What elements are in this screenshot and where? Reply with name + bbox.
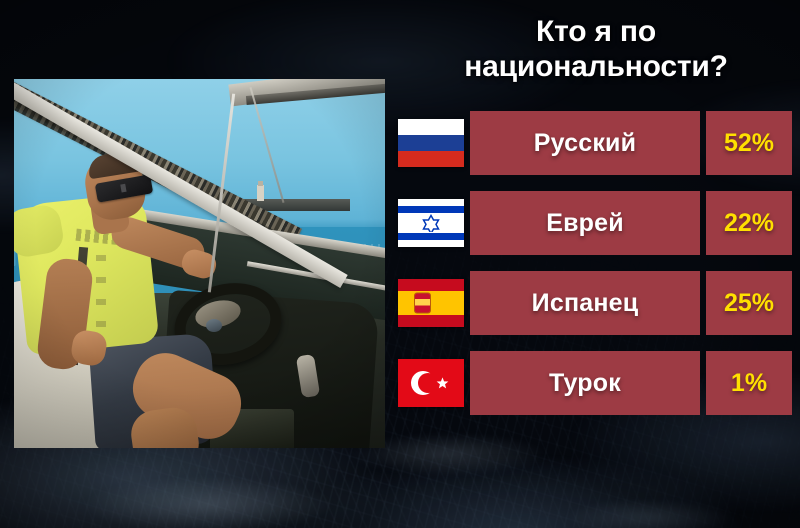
flag-turkey-icon [398,359,464,407]
results-list: Русский 52% Еврей 22% Испанец 25% [398,111,792,415]
title-line-2: национальности? [398,49,794,84]
table-row: Еврей 22% [398,191,792,255]
table-row: Русский 52% [398,111,792,175]
flag-spain-icon [398,279,464,327]
nationality-label: Испанец [470,271,700,335]
user-photo [14,79,385,448]
nationality-label: Русский [470,111,700,175]
nationality-label: Еврей [470,191,700,255]
percent-value: 25% [706,271,792,335]
page-title: Кто я по национальности? [398,14,794,85]
percent-value: 52% [706,111,792,175]
flag-israel-icon [398,199,464,247]
table-row: Испанец 25% [398,271,792,335]
percent-value: 1% [706,351,792,415]
nationality-label: Турок [470,351,700,415]
title-line-1: Кто я по [398,14,794,49]
percent-value: 22% [706,191,792,255]
flag-russia-icon [398,119,464,167]
table-row: Турок 1% [398,351,792,415]
result-card: Кто я по национальности? Русский 52% Евр… [0,0,800,528]
